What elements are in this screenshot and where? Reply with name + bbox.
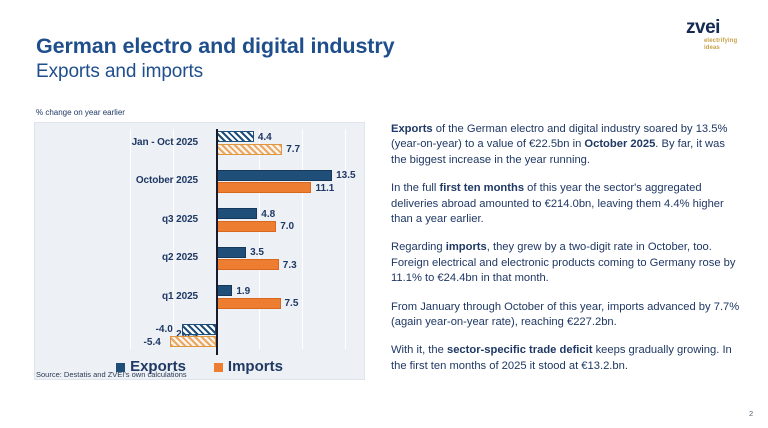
p3-emph: imports [446, 241, 487, 253]
paragraph-jan-oct-imports: From January through October of this yea… [391, 300, 743, 331]
p5-emph: sector-specific trade deficit [447, 344, 593, 356]
chart-value-label: 7.7 [286, 144, 300, 155]
chart-bar-exports [216, 208, 257, 219]
chart-bar-exports [182, 324, 216, 335]
page-number: 2 [749, 409, 753, 418]
chart-bar-imports [216, 144, 282, 155]
chart-category-label: q1 2025 [35, 291, 198, 302]
page-subtitle: Exports and imports [36, 60, 556, 83]
paragraph-imports: Regarding imports, they grew by a two-di… [391, 240, 743, 286]
chart-gridline [173, 129, 174, 349]
paragraph-ten-months: In the full first ten months of this yea… [391, 181, 743, 227]
chart-value-label: 13.5 [336, 170, 355, 181]
slide-root: zvei electrifying ideas German electro a… [0, 0, 768, 428]
article-body: Exports of the German electro and digita… [391, 122, 743, 374]
chart-value-label: -4.0 [156, 324, 173, 335]
chart-category-row: q1 20251.97.5 [35, 285, 364, 309]
chart-value-label: 11.1 [315, 183, 334, 194]
chart-category-label: Jan - Oct 2025 [35, 137, 198, 148]
zvei-tagline-line2: ideas [704, 45, 756, 52]
chart-bar-exports [216, 170, 332, 181]
chart-category-label: October 2025 [35, 175, 198, 186]
legend-item-imports: Imports [214, 359, 283, 375]
p5-text-a: With it, the [391, 344, 447, 356]
p1-lead: Exports [391, 123, 433, 135]
chart-source-note: Source: Destatis and ZVEI's own calculat… [36, 370, 187, 380]
chart-value-label: 4.4 [258, 132, 272, 143]
chart-value-label: 7.5 [285, 298, 299, 309]
bar-chart: Jan - Oct 20254.47.7October 202513.511.1… [34, 122, 365, 380]
zvei-wordmark: zvei [686, 18, 756, 37]
chart-bar-imports [216, 221, 276, 232]
chart-gridline [345, 129, 346, 349]
chart-category-row: October 202513.511.1 [35, 170, 364, 194]
chart-bar-exports [216, 131, 254, 142]
page-title: German electro and digital industry [36, 34, 556, 59]
chart-value-label: -5.4 [144, 337, 161, 348]
chart-value-label: 7.3 [283, 260, 297, 271]
chart-value-label: 7.0 [280, 221, 294, 232]
chart-bar-imports [170, 336, 216, 347]
chart-value-label: 3.5 [250, 247, 264, 258]
chart-bar-imports [216, 259, 279, 270]
zvei-tagline-line1: electrifying [704, 38, 756, 45]
chart-category-row: 2024-4.0-5.4 [35, 324, 364, 348]
chart-plot-area: Jan - Oct 20254.47.7October 202513.511.1… [35, 123, 364, 379]
chart-zero-axis [216, 129, 218, 355]
chart-gridline [302, 129, 303, 349]
chart-category-row: q3 20254.87.0 [35, 208, 364, 232]
chart-category-row: q2 20253.57.3 [35, 247, 364, 271]
paragraph-exports: Exports of the German electro and digita… [391, 122, 743, 168]
zvei-logo: zvei electrifying ideas [686, 18, 756, 58]
chart-gridline [259, 129, 260, 349]
chart-category-row: Jan - Oct 20254.47.7 [35, 131, 364, 155]
p2-text-a: In the full [391, 182, 440, 194]
chart-gridline [130, 129, 131, 349]
chart-value-label: 4.8 [261, 209, 275, 220]
chart-bar-imports [216, 182, 311, 193]
chart-category-label: q2 2025 [35, 252, 198, 263]
chart-category-label: q3 2025 [35, 214, 198, 225]
chart-value-label: 1.9 [236, 286, 250, 297]
p3-text-a: Regarding [391, 241, 446, 253]
headline-block: German electro and digital industry Expo… [36, 34, 556, 83]
chart-axis-note: % change on year earlier [36, 108, 366, 118]
legend-label-imports: Imports [228, 359, 283, 375]
zvei-tagline: electrifying ideas [704, 38, 756, 52]
p1-emph: October 2025 [584, 138, 655, 150]
paragraph-trade-deficit: With it, the sector-specific trade defic… [391, 343, 743, 374]
chart-bar-exports [216, 285, 232, 296]
chart-bar-exports [216, 247, 246, 258]
chart-block: % change on year earlier Jan - Oct 20254… [34, 108, 366, 380]
p2-emph: first ten months [440, 182, 525, 194]
chart-bar-imports [216, 298, 281, 309]
legend-swatch-imports-icon [214, 363, 223, 372]
